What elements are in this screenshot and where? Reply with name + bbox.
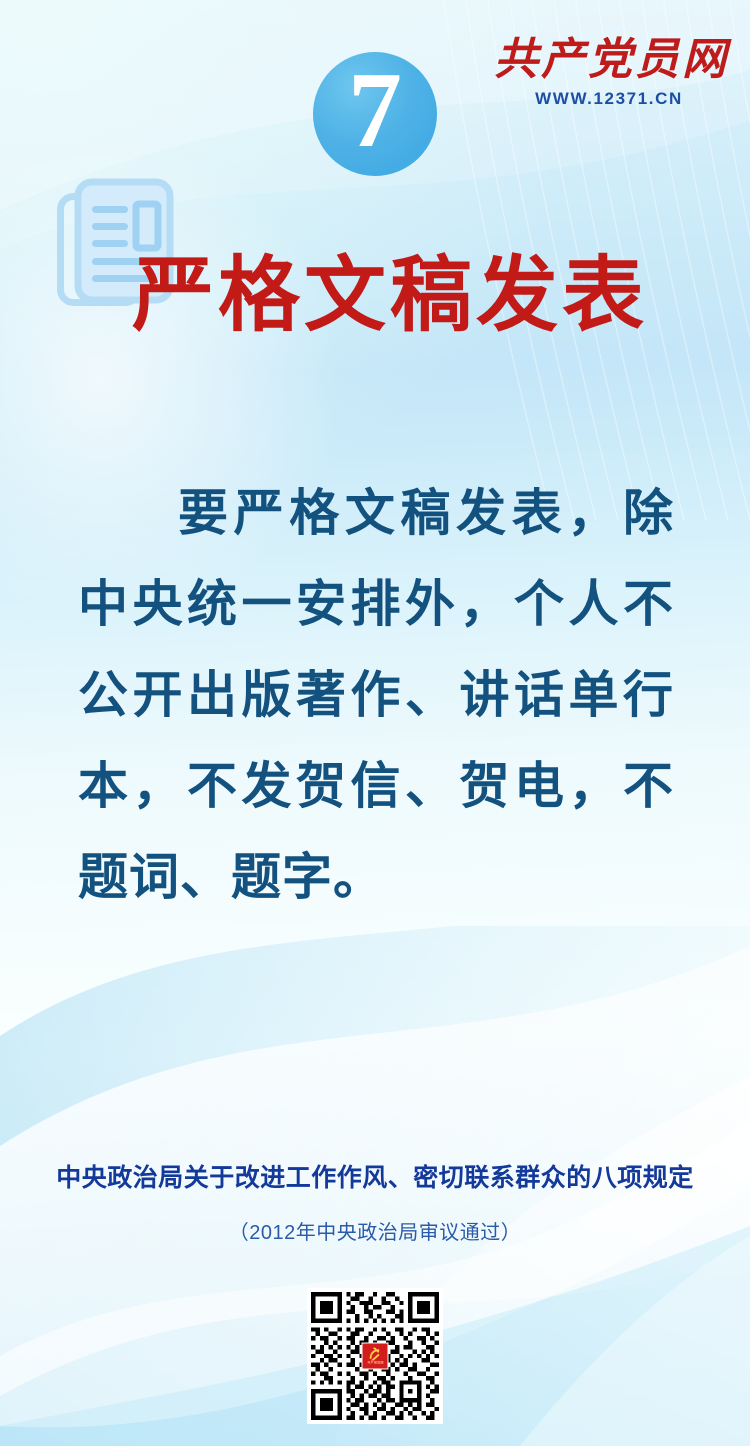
party-emblem-icon: 共产党员网	[362, 1343, 389, 1370]
qr-code-icon[interactable]: 共产党员网	[307, 1288, 443, 1424]
regulation-title: 中央政治局关于改进工作作风、密切联系群众的八项规定	[0, 1158, 750, 1194]
site-brand: 共产党员网 WWW.12371.CN	[494, 38, 724, 109]
qr-code-pattern: 共产党员网	[311, 1292, 439, 1420]
emblem-label: 共产党员网	[367, 1362, 383, 1365]
poster-canvas: 共产党员网 WWW.12371.CN 7 严格文稿发表 要严格文稿发表，除中央统…	[0, 0, 750, 1446]
rule-number: 7	[348, 57, 402, 165]
brand-url: WWW.12371.CN	[494, 89, 724, 109]
hammer-sickle-icon	[368, 1348, 383, 1361]
footer-block: 中央政治局关于改进工作作风、密切联系群众的八项规定 （2012年中央政治局审议通…	[0, 1158, 750, 1245]
rule-body-text: 要严格文稿发表，除中央统一安排外，个人不公开出版著作、讲话单行本，不发贺信、贺电…	[78, 468, 674, 923]
page-title: 严格文稿发表	[132, 251, 692, 341]
rule-number-badge: 7	[313, 52, 437, 176]
brand-name: 共产党员网	[494, 38, 724, 82]
regulation-note: （2012年中央政治局审议通过）	[0, 1216, 750, 1245]
